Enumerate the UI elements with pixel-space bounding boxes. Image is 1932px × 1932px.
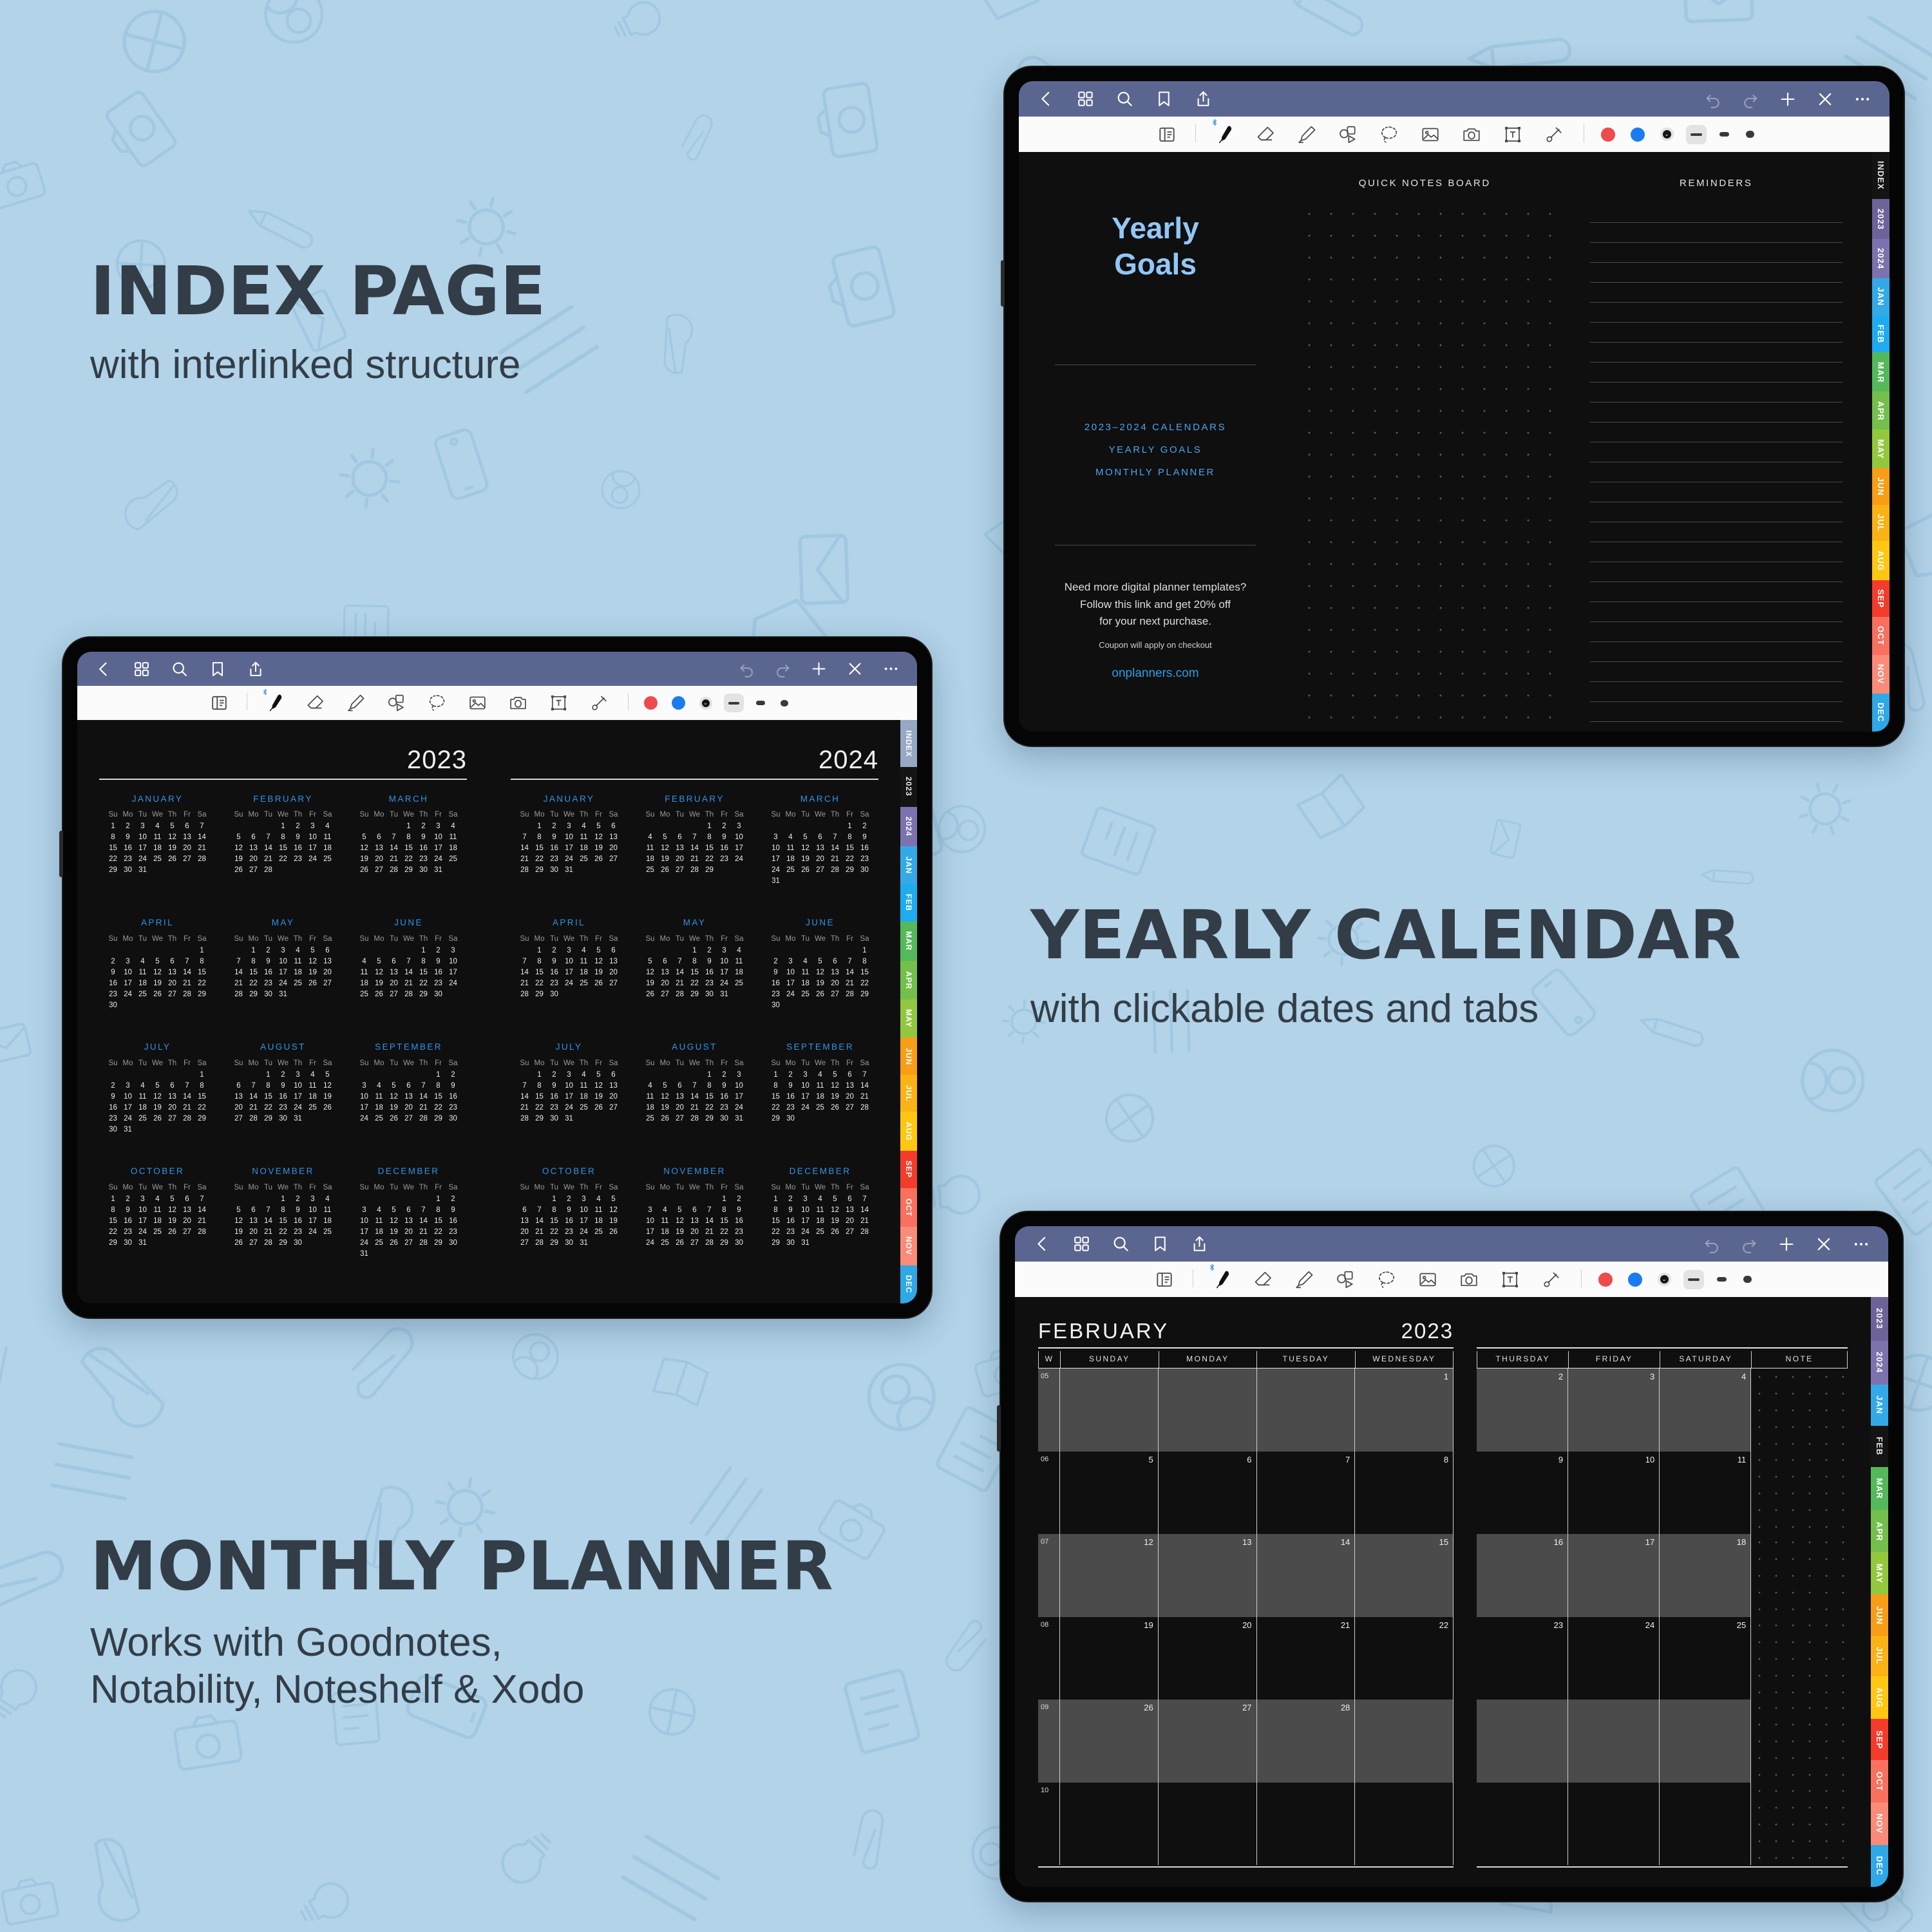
mini-calendar-day[interactable]: 26 bbox=[231, 1237, 246, 1248]
mini-calendar-day[interactable]: 23 bbox=[106, 989, 120, 999]
side-tab-mar[interactable]: MAR bbox=[900, 922, 917, 961]
mini-calendar-day[interactable]: 13 bbox=[842, 1204, 857, 1215]
mini-calendar-day[interactable]: 27 bbox=[687, 1237, 702, 1248]
mini-calendar-day[interactable]: 17 bbox=[276, 967, 290, 978]
mini-calendar-day[interactable]: 7 bbox=[702, 1204, 717, 1215]
side-tab-jan[interactable]: JAN bbox=[1871, 1385, 1888, 1426]
stroke-width-medium[interactable] bbox=[1719, 132, 1729, 137]
mini-calendar-day[interactable]: 8 bbox=[857, 956, 872, 967]
planner-day-cell[interactable]: 18 bbox=[1660, 1534, 1751, 1617]
mini-calendar-day[interactable]: 22 bbox=[261, 1102, 276, 1113]
mini-calendar-day[interactable]: 6 bbox=[246, 832, 261, 843]
mini-calendar-day[interactable]: 12 bbox=[320, 1080, 335, 1091]
mini-calendar-day[interactable]: 30 bbox=[446, 1113, 460, 1124]
side-tab-may[interactable]: MAY bbox=[1871, 1552, 1888, 1595]
side-tab-dec[interactable]: DEC bbox=[900, 1265, 917, 1303]
mini-calendar-day[interactable]: 26 bbox=[320, 1102, 335, 1113]
mini-calendar-day[interactable]: 24 bbox=[562, 1102, 576, 1113]
mini-calendar-day[interactable]: 18 bbox=[290, 967, 305, 978]
mini-calendar-day[interactable]: 14 bbox=[687, 843, 702, 854]
mini-calendar-day[interactable]: 28 bbox=[857, 1102, 872, 1113]
planner-day-cell[interactable]: 25 bbox=[1660, 1617, 1751, 1700]
mini-calendar-day[interactable]: 13 bbox=[180, 832, 194, 843]
mini-calendar-day[interactable]: 28 bbox=[386, 865, 401, 876]
mini-calendar-day[interactable]: 20 bbox=[320, 967, 335, 978]
mini-calendar-day[interactable]: 26 bbox=[591, 978, 606, 989]
promo-link[interactable]: onplanners.com bbox=[1055, 667, 1256, 681]
mini-calendar-day[interactable]: 16 bbox=[717, 1091, 732, 1102]
mini-calendar-day[interactable]: 13 bbox=[372, 843, 386, 854]
mini-calendar-day[interactable]: 7 bbox=[231, 956, 246, 967]
mini-calendar-day[interactable]: 14 bbox=[416, 1215, 431, 1226]
mini-calendar-day[interactable]: 30 bbox=[261, 989, 276, 999]
mini-calendar-day[interactable]: 28 bbox=[246, 1113, 261, 1124]
close-icon[interactable] bbox=[846, 660, 864, 677]
mini-calendar-day[interactable]: 29 bbox=[276, 1237, 290, 1248]
stroke-width-thick[interactable] bbox=[1746, 131, 1754, 138]
mini-calendar-day[interactable]: 7 bbox=[261, 1204, 276, 1215]
mini-calendar-day[interactable]: 25 bbox=[320, 854, 335, 865]
mini-calendar-day[interactable]: 18 bbox=[658, 1226, 672, 1237]
mini-calendar-day[interactable]: 18 bbox=[643, 1102, 658, 1113]
mini-calendar-day[interactable]: 20 bbox=[813, 854, 828, 865]
mini-calendar-day[interactable]: 15 bbox=[431, 1215, 446, 1226]
mini-calendar-day[interactable]: 14 bbox=[261, 1215, 276, 1226]
mini-calendar-day[interactable]: 11 bbox=[305, 1080, 320, 1091]
mini-calendar-day[interactable]: 26 bbox=[386, 1237, 401, 1248]
mini-calendar-day[interactable]: 29 bbox=[194, 989, 209, 999]
mini-calendar-day[interactable]: 21 bbox=[517, 854, 532, 865]
mini-calendar-day[interactable]: 28 bbox=[532, 1237, 547, 1248]
mini-calendar-day[interactable]: 25 bbox=[446, 854, 460, 865]
mini-calendar-day[interactable]: 24 bbox=[290, 1102, 305, 1113]
mini-calendar-day[interactable]: 1 bbox=[276, 821, 290, 832]
mini-calendar-day[interactable]: 25 bbox=[783, 865, 798, 876]
mini-calendar-day[interactable]: 6 bbox=[687, 1204, 702, 1215]
mini-calendar-day[interactable]: 15 bbox=[702, 843, 717, 854]
mini-calendar-day[interactable]: 3 bbox=[798, 1193, 813, 1204]
bookmark-icon[interactable] bbox=[1155, 90, 1173, 108]
mini-calendar-day[interactable]: 25 bbox=[290, 978, 305, 989]
mini-calendar-day[interactable]: 3 bbox=[120, 1080, 135, 1091]
mini-calendar-day[interactable]: 5 bbox=[165, 821, 180, 832]
mini-calendar-day[interactable]: 24 bbox=[768, 865, 783, 876]
mini-calendar-day[interactable]: 15 bbox=[768, 1215, 783, 1226]
shapes-icon[interactable] bbox=[386, 693, 406, 713]
search-icon[interactable] bbox=[171, 660, 189, 678]
side-tab-jun[interactable]: JUN bbox=[900, 1037, 917, 1075]
mini-calendar-day[interactable]: 27 bbox=[180, 854, 194, 865]
mini-calendar-day[interactable]: 27 bbox=[401, 1113, 416, 1124]
mini-calendar-day[interactable]: 17 bbox=[562, 967, 576, 978]
mini-calendar-day[interactable]: 25 bbox=[732, 978, 746, 989]
mini-calendar-day[interactable]: 29 bbox=[547, 1237, 562, 1248]
mini-calendar-day[interactable]: 22 bbox=[246, 978, 261, 989]
mini-calendar-day[interactable]: 22 bbox=[717, 1226, 732, 1237]
mini-calendar-day[interactable]: 12 bbox=[165, 832, 180, 843]
mini-calendar-day[interactable]: 21 bbox=[532, 1226, 547, 1237]
mini-calendar-day[interactable]: 6 bbox=[606, 1069, 621, 1080]
mini-calendar-day[interactable]: 3 bbox=[357, 1080, 372, 1091]
mini-calendar-day[interactable]: 21 bbox=[672, 978, 687, 989]
mini-calendar-day[interactable]: 4 bbox=[305, 1069, 320, 1080]
laser-pointer-icon[interactable] bbox=[1544, 124, 1564, 145]
mini-calendar-day[interactable]: 11 bbox=[135, 1091, 150, 1102]
mini-calendar-day[interactable]: 5 bbox=[591, 821, 606, 832]
power-button[interactable] bbox=[997, 1405, 1001, 1452]
planner-day-cell[interactable] bbox=[1477, 1700, 1568, 1783]
planner-day-cell[interactable] bbox=[1060, 1783, 1159, 1866]
mini-calendar-day[interactable]: 25 bbox=[798, 989, 813, 999]
mini-calendar-day[interactable]: 24 bbox=[643, 1237, 658, 1248]
planner-day-cell[interactable]: 14 bbox=[1257, 1534, 1356, 1617]
mini-calendar-day[interactable]: 23 bbox=[717, 1102, 732, 1113]
mini-calendar-day[interactable]: 12 bbox=[658, 843, 672, 854]
side-tab-aug[interactable]: AUG bbox=[1872, 541, 1889, 580]
mini-calendar-day[interactable]: 12 bbox=[305, 956, 320, 967]
mini-calendar-day[interactable]: 26 bbox=[813, 989, 828, 999]
mini-calendar-day[interactable]: 23 bbox=[276, 1102, 290, 1113]
planner-day-cell[interactable]: 22 bbox=[1355, 1617, 1454, 1700]
mini-calendar-day[interactable]: 6 bbox=[813, 832, 828, 843]
mini-calendar-day[interactable]: 26 bbox=[165, 1226, 180, 1237]
mini-calendar-day[interactable]: 19 bbox=[386, 1102, 401, 1113]
mini-calendar-day[interactable]: 26 bbox=[591, 854, 606, 865]
text-box-icon[interactable] bbox=[549, 693, 569, 713]
add-page-icon[interactable] bbox=[1777, 1235, 1795, 1253]
text-box-icon[interactable] bbox=[1500, 1269, 1520, 1290]
mini-calendar-day[interactable]: 4 bbox=[320, 821, 335, 832]
mini-calendar-day[interactable]: 6 bbox=[165, 956, 180, 967]
mini-calendar-day[interactable]: 19 bbox=[320, 1091, 335, 1102]
mini-calendar-day[interactable]: 7 bbox=[180, 1080, 194, 1091]
mini-calendar-day[interactable]: 19 bbox=[372, 978, 386, 989]
mini-calendar-day[interactable]: 16 bbox=[783, 1091, 798, 1102]
eraser-icon[interactable] bbox=[1253, 1269, 1273, 1290]
mini-calendar-day[interactable]: 26 bbox=[658, 1113, 672, 1124]
mini-calendar-day[interactable]: 18 bbox=[783, 854, 798, 865]
mini-calendar-day[interactable]: 16 bbox=[290, 1215, 305, 1226]
mini-calendar-day[interactable]: 27 bbox=[180, 1226, 194, 1237]
mini-calendar-day[interactable]: 27 bbox=[386, 989, 401, 999]
mini-calendar-day[interactable]: 20 bbox=[517, 1226, 532, 1237]
mini-calendar-day[interactable]: 23 bbox=[547, 1102, 562, 1113]
mini-calendar-day[interactable]: 17 bbox=[305, 1215, 320, 1226]
mini-calendar-day[interactable]: 4 bbox=[576, 821, 591, 832]
read-only-toggle-icon[interactable] bbox=[209, 693, 229, 713]
mini-calendar-day[interactable]: 4 bbox=[135, 956, 150, 967]
mini-calendar-day[interactable]: 8 bbox=[261, 1080, 276, 1091]
mini-calendar-day[interactable]: 17 bbox=[798, 1091, 813, 1102]
planner-day-cell[interactable] bbox=[1159, 1368, 1257, 1452]
side-tab-oct[interactable]: OCT bbox=[1872, 617, 1889, 655]
undo-icon[interactable] bbox=[738, 660, 755, 677]
mini-calendar-day[interactable]: 24 bbox=[576, 1226, 591, 1237]
side-tab-aug[interactable]: AUG bbox=[900, 1112, 917, 1151]
mini-calendar-day[interactable]: 1 bbox=[431, 1193, 446, 1204]
mini-calendar-day[interactable]: 3 bbox=[783, 956, 798, 967]
mini-calendar-day[interactable]: 15 bbox=[702, 1091, 717, 1102]
mini-calendar-day[interactable]: 2 bbox=[547, 821, 562, 832]
mini-calendar-day[interactable]: 24 bbox=[276, 978, 290, 989]
mini-calendar-day[interactable]: 17 bbox=[120, 978, 135, 989]
mini-calendar-day[interactable]: 2 bbox=[732, 1193, 746, 1204]
mini-calendar-day[interactable]: 7 bbox=[517, 1080, 532, 1091]
image-icon[interactable] bbox=[1417, 1269, 1438, 1290]
mini-calendar-day[interactable]: 16 bbox=[290, 843, 305, 854]
share-icon[interactable] bbox=[1194, 90, 1213, 108]
planner-day-cell[interactable]: 3 bbox=[1568, 1368, 1660, 1452]
search-icon[interactable] bbox=[1112, 1235, 1130, 1253]
mini-calendar-day[interactable]: 25 bbox=[643, 1113, 658, 1124]
mini-calendar-day[interactable]: 18 bbox=[305, 1091, 320, 1102]
mini-calendar-day[interactable]: 21 bbox=[702, 1226, 717, 1237]
mini-calendar-day[interactable]: 13 bbox=[672, 843, 687, 854]
mini-calendar-day[interactable]: 31 bbox=[135, 1237, 150, 1248]
mini-calendar-day[interactable]: 28 bbox=[687, 865, 702, 876]
mini-calendar-day[interactable]: 10 bbox=[783, 967, 798, 978]
side-tab-jul[interactable]: JUL bbox=[1872, 505, 1889, 541]
mini-calendar-day[interactable]: 30 bbox=[106, 999, 120, 1010]
mini-calendar-day[interactable]: 19 bbox=[798, 854, 813, 865]
mini-calendar-day[interactable]: 6 bbox=[401, 1204, 416, 1215]
mini-calendar-day[interactable]: 20 bbox=[386, 978, 401, 989]
side-tab-2023[interactable]: 2023 bbox=[1872, 199, 1889, 238]
mini-calendar-day[interactable]: 11 bbox=[798, 967, 813, 978]
pen-icon[interactable] bbox=[1211, 1269, 1232, 1290]
mini-calendar-day[interactable]: 15 bbox=[768, 1091, 783, 1102]
mini-calendar-day[interactable]: 16 bbox=[547, 967, 562, 978]
mini-calendar-day[interactable]: 23 bbox=[732, 1226, 746, 1237]
mini-calendar-day[interactable]: 28 bbox=[261, 865, 276, 876]
side-tab-feb[interactable]: FEB bbox=[1871, 1426, 1888, 1467]
mini-calendar-day[interactable]: 5 bbox=[813, 956, 828, 967]
note-cell[interactable] bbox=[1751, 1452, 1848, 1535]
mini-calendar-day[interactable]: 29 bbox=[431, 1237, 446, 1248]
mini-calendar-day[interactable]: 16 bbox=[857, 843, 872, 854]
more-options-icon[interactable] bbox=[882, 660, 900, 677]
mini-calendar-day[interactable]: 4 bbox=[576, 945, 591, 956]
mini-calendar-day[interactable]: 10 bbox=[768, 843, 783, 854]
mini-calendar-day[interactable]: 3 bbox=[562, 945, 576, 956]
mini-calendar-day[interactable]: 8 bbox=[532, 956, 547, 967]
side-tab-apr[interactable]: APR bbox=[900, 961, 917, 999]
mini-calendar-day[interactable]: 17 bbox=[357, 1226, 372, 1237]
mini-calendar-day[interactable]: 26 bbox=[305, 978, 320, 989]
planner-day-cell[interactable] bbox=[1159, 1783, 1257, 1866]
planner-day-cell[interactable] bbox=[1660, 1700, 1751, 1783]
mini-calendar-day[interactable]: 2 bbox=[290, 1193, 305, 1204]
mini-calendar-day[interactable]: 23 bbox=[717, 854, 732, 865]
mini-calendar-day[interactable]: 2 bbox=[416, 821, 431, 832]
mini-calendar-day[interactable]: 15 bbox=[717, 1215, 732, 1226]
power-button[interactable] bbox=[1001, 260, 1005, 307]
mini-calendar-day[interactable]: 16 bbox=[717, 843, 732, 854]
planner-day-cell[interactable]: 7 bbox=[1257, 1452, 1356, 1535]
side-tab-jun[interactable]: JUN bbox=[1871, 1595, 1888, 1636]
mini-calendar-day[interactable]: 17 bbox=[576, 1215, 591, 1226]
mini-calendar-day[interactable]: 16 bbox=[732, 1215, 746, 1226]
mini-calendar-day[interactable]: 2 bbox=[702, 945, 717, 956]
mini-calendar-day[interactable]: 20 bbox=[672, 854, 687, 865]
mini-calendar-day[interactable]: 11 bbox=[150, 832, 165, 843]
mini-calendar-day[interactable]: 3 bbox=[717, 945, 732, 956]
side-tab-dec[interactable]: DEC bbox=[1871, 1845, 1888, 1887]
mini-calendar-day[interactable]: 20 bbox=[606, 1091, 621, 1102]
mini-calendar-day[interactable]: 12 bbox=[591, 956, 606, 967]
planner-day-cell[interactable]: 27 bbox=[1159, 1700, 1257, 1783]
mini-calendar-day[interactable]: 14 bbox=[246, 1091, 261, 1102]
mini-calendar-day[interactable]: 12 bbox=[658, 1091, 672, 1102]
link-calendars[interactable]: 2023–2024 CALENDARS bbox=[1055, 422, 1256, 433]
mini-calendar-day[interactable]: 14 bbox=[672, 967, 687, 978]
mini-calendar-day[interactable]: 14 bbox=[702, 1215, 717, 1226]
mini-calendar-day[interactable]: 29 bbox=[768, 1237, 783, 1248]
mini-calendar-day[interactable]: 20 bbox=[842, 1215, 857, 1226]
mini-calendar-day[interactable]: 10 bbox=[562, 832, 576, 843]
mini-calendar-day[interactable]: 4 bbox=[446, 821, 460, 832]
mini-calendar-day[interactable]: 24 bbox=[305, 1226, 320, 1237]
mini-calendar-day[interactable]: 2 bbox=[768, 956, 783, 967]
mini-calendar-day[interactable]: 19 bbox=[386, 1226, 401, 1237]
mini-calendar-day[interactable]: 16 bbox=[431, 967, 446, 978]
mini-calendar-day[interactable]: 15 bbox=[194, 1091, 209, 1102]
mini-calendar-day[interactable]: 3 bbox=[120, 956, 135, 967]
mini-calendar-day[interactable]: 1 bbox=[261, 1069, 276, 1080]
mini-calendar-day[interactable]: 6 bbox=[401, 1080, 416, 1091]
mini-calendar-day[interactable]: 19 bbox=[150, 978, 165, 989]
mini-calendar-day[interactable]: 26 bbox=[798, 865, 813, 876]
mini-calendar-day[interactable]: 8 bbox=[547, 1204, 562, 1215]
mini-calendar-day[interactable]: 27 bbox=[231, 1113, 246, 1124]
mini-calendar-day[interactable]: 30 bbox=[547, 865, 562, 876]
mini-calendar-day[interactable]: 4 bbox=[290, 945, 305, 956]
mini-calendar-day[interactable]: 20 bbox=[246, 854, 261, 865]
mini-calendar-day[interactable]: 14 bbox=[386, 843, 401, 854]
mini-calendar-day[interactable]: 9 bbox=[562, 1204, 576, 1215]
mini-calendar-day[interactable]: 28 bbox=[672, 989, 687, 999]
mini-calendar-day[interactable]: 26 bbox=[606, 1226, 621, 1237]
mini-calendar-day[interactable]: 16 bbox=[106, 978, 120, 989]
mini-calendar-day[interactable]: 12 bbox=[828, 1080, 842, 1091]
mini-calendar-day[interactable]: 7 bbox=[386, 832, 401, 843]
mini-calendar-day[interactable]: 3 bbox=[305, 821, 320, 832]
planner-day-cell[interactable]: 21 bbox=[1257, 1617, 1356, 1700]
mini-calendar-day[interactable]: 13 bbox=[658, 967, 672, 978]
mini-calendar-day[interactable]: 6 bbox=[320, 945, 335, 956]
mini-calendar-day[interactable]: 9 bbox=[431, 956, 446, 967]
mini-calendar-day[interactable]: 27 bbox=[606, 854, 621, 865]
read-only-toggle-icon[interactable] bbox=[1154, 1269, 1175, 1290]
highlighter-icon[interactable] bbox=[1296, 124, 1317, 145]
grid-thumbnails-icon[interactable] bbox=[1072, 1235, 1091, 1253]
mini-calendar-day[interactable]: 2 bbox=[717, 1069, 732, 1080]
link-monthly-planner[interactable]: MONTHLY PLANNER bbox=[1055, 467, 1256, 478]
mini-calendar-day[interactable]: 5 bbox=[372, 956, 386, 967]
mini-calendar-day[interactable]: 28 bbox=[842, 989, 857, 999]
mini-calendar-day[interactable]: 14 bbox=[532, 1215, 547, 1226]
mini-calendar-day[interactable]: 8 bbox=[401, 832, 416, 843]
mini-calendar-day[interactable]: 25 bbox=[150, 1226, 165, 1237]
mini-calendar-day[interactable]: 15 bbox=[106, 843, 120, 854]
mini-calendar-day[interactable]: 9 bbox=[261, 956, 276, 967]
stroke-width-thin[interactable] bbox=[1686, 125, 1707, 144]
mini-calendar-day[interactable]: 22 bbox=[768, 1226, 783, 1237]
mini-calendar-day[interactable]: 3 bbox=[135, 821, 150, 832]
dot-grid-area[interactable] bbox=[1298, 203, 1551, 731]
mini-calendar-day[interactable]: 3 bbox=[732, 821, 746, 832]
mini-calendar-day[interactable]: 28 bbox=[702, 1237, 717, 1248]
mini-calendar-day[interactable]: 13 bbox=[401, 1091, 416, 1102]
mini-calendar-day[interactable]: 30 bbox=[783, 1237, 798, 1248]
mini-calendar-day[interactable]: 29 bbox=[857, 989, 872, 999]
mini-calendar-day[interactable]: 22 bbox=[547, 1226, 562, 1237]
mini-calendar-day[interactable]: 4 bbox=[576, 1069, 591, 1080]
mini-calendar-day[interactable]: 6 bbox=[672, 1080, 687, 1091]
mini-calendar-day[interactable]: 24 bbox=[562, 978, 576, 989]
side-tab-sep[interactable]: SEP bbox=[1871, 1719, 1888, 1760]
ruled-lines-area[interactable] bbox=[1590, 203, 1843, 731]
mini-calendar-day[interactable]: 24 bbox=[357, 1237, 372, 1248]
mini-calendar-day[interactable]: 27 bbox=[606, 1102, 621, 1113]
mini-calendar-day[interactable]: 25 bbox=[320, 1226, 335, 1237]
mini-calendar-day[interactable]: 5 bbox=[386, 1204, 401, 1215]
mini-calendar-day[interactable]: 14 bbox=[401, 967, 416, 978]
mini-calendar-day[interactable]: 7 bbox=[842, 956, 857, 967]
mini-calendar-day[interactable]: 19 bbox=[672, 1226, 687, 1237]
mini-calendar-day[interactable]: 30 bbox=[120, 865, 135, 876]
mini-calendar-day[interactable]: 9 bbox=[106, 967, 120, 978]
mini-calendar-day[interactable]: 30 bbox=[290, 1237, 305, 1248]
mini-calendar-day[interactable]: 11 bbox=[372, 1091, 386, 1102]
add-page-icon[interactable] bbox=[810, 660, 828, 677]
mini-calendar-day[interactable]: 19 bbox=[231, 854, 246, 865]
mini-calendar-day[interactable]: 29 bbox=[702, 865, 717, 876]
mini-calendar-day[interactable]: 7 bbox=[416, 1204, 431, 1215]
mini-calendar-day[interactable]: 8 bbox=[532, 1080, 547, 1091]
mini-calendar-day[interactable]: 29 bbox=[106, 1237, 120, 1248]
mini-calendar-day[interactable]: 16 bbox=[120, 843, 135, 854]
mini-calendar-day[interactable]: 7 bbox=[517, 956, 532, 967]
mini-calendar-day[interactable]: 9 bbox=[717, 1080, 732, 1091]
mini-calendar-day[interactable]: 11 bbox=[357, 967, 372, 978]
mini-calendar-day[interactable]: 16 bbox=[261, 967, 276, 978]
mini-calendar-day[interactable]: 18 bbox=[135, 1102, 150, 1113]
mini-calendar-day[interactable]: 19 bbox=[828, 1215, 842, 1226]
mini-calendar-day[interactable]: 7 bbox=[194, 1193, 209, 1204]
side-tab-nov[interactable]: NOV bbox=[1871, 1803, 1888, 1845]
mini-calendar-day[interactable]: 5 bbox=[643, 956, 658, 967]
more-options-icon[interactable] bbox=[1853, 90, 1871, 108]
mini-calendar-day[interactable]: 1 bbox=[106, 1193, 120, 1204]
mini-calendar-day[interactable]: 4 bbox=[813, 1069, 828, 1080]
highlighter-icon[interactable] bbox=[346, 693, 366, 713]
mini-calendar-day[interactable]: 19 bbox=[165, 843, 180, 854]
mini-calendar-day[interactable]: 31 bbox=[768, 876, 783, 887]
mini-calendar-day[interactable]: 10 bbox=[732, 832, 746, 843]
mini-calendar-day[interactable]: 26 bbox=[828, 1226, 842, 1237]
note-cell[interactable] bbox=[1751, 1534, 1848, 1617]
laser-pointer-icon[interactable] bbox=[1541, 1269, 1562, 1290]
undo-icon[interactable] bbox=[1704, 90, 1722, 108]
mini-calendar-day[interactable]: 22 bbox=[702, 1102, 717, 1113]
mini-calendar-day[interactable]: 18 bbox=[813, 1215, 828, 1226]
mini-calendar-day[interactable]: 26 bbox=[658, 865, 672, 876]
mini-calendar-day[interactable]: 11 bbox=[150, 1204, 165, 1215]
mini-calendar-day[interactable]: 27 bbox=[672, 1113, 687, 1124]
mini-calendar-day[interactable]: 13 bbox=[687, 1215, 702, 1226]
mini-calendar-day[interactable]: 22 bbox=[401, 854, 416, 865]
